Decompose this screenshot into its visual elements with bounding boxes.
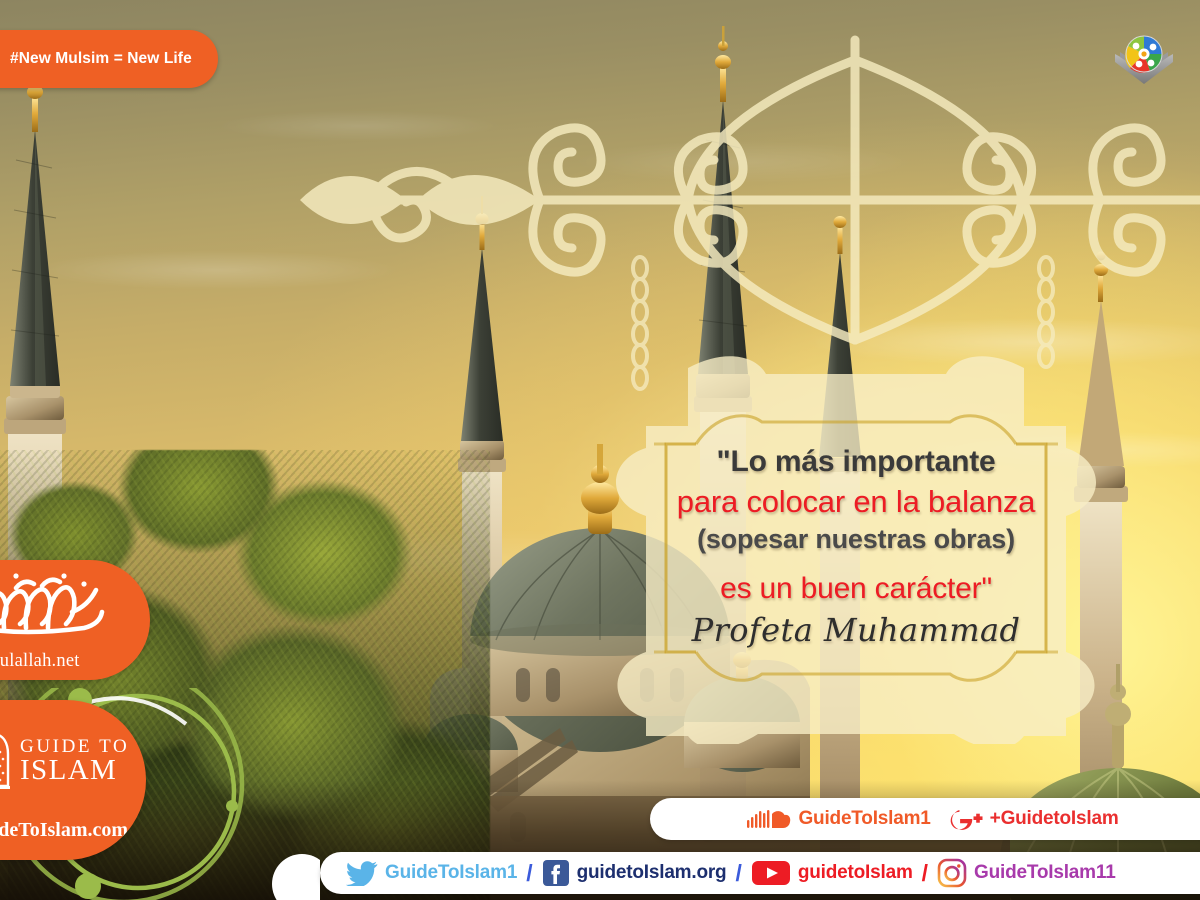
separator-2: / [735, 860, 741, 887]
mosque-arch-icon [0, 732, 10, 790]
social-label-googleplus: +GuidetoIslam [990, 808, 1119, 830]
social-item-twitter[interactable]: GuideToIslam1 [346, 860, 517, 886]
social-item-facebook[interactable]: guidetoIslam.org [542, 859, 727, 887]
instagram-icon [937, 858, 967, 888]
guide-to-islam-line2: ISLAM [20, 757, 129, 784]
twitter-icon [346, 860, 378, 886]
facebook-icon [542, 859, 570, 887]
social-bar-bottom: GuideToIslam1 / guidetoIslam.org / guide… [320, 852, 1200, 894]
social-label-facebook: guidetoIslam.org [577, 862, 727, 884]
quote-line-1: "Lo más importante [717, 446, 996, 478]
separator-1: / [526, 860, 532, 887]
social-label-twitter: GuideToIslam1 [385, 862, 517, 884]
poster-canvas: #New Mulsim = New Life [0, 0, 1200, 900]
open-book-globe-logo[interactable] [1110, 28, 1178, 90]
quote-line-2: para colocar en la balanza [677, 486, 1035, 519]
separator-3: / [922, 860, 928, 887]
quote-line-4: es un buen carácter" [720, 573, 992, 605]
social-item-youtube[interactable]: guidetoIslam [751, 859, 913, 887]
social-label-soundcloud: GuideToIslam1 [798, 808, 930, 830]
quote-attribution: Profeta Muhammad [692, 611, 1021, 649]
social-item-instagram[interactable]: GuideToIslam11 [937, 858, 1116, 888]
social-item-soundcloud[interactable]: GuideToIslam1 [747, 806, 930, 832]
social-label-instagram: GuideToIslam11 [974, 862, 1116, 884]
googleplus-icon [947, 806, 983, 832]
social-label-youtube: guidetoIslam [798, 862, 913, 884]
guide-to-islam-caption: GuideToIslam.com [0, 819, 128, 842]
hashtag-badge: #New Mulsim = New Life [0, 30, 218, 88]
social-bar-top: GuideToIslam1 +GuidetoIslam [650, 798, 1200, 840]
social-item-googleplus[interactable]: +GuidetoIslam [947, 806, 1119, 832]
rasoulallah-caption: Rasoulallah.net [0, 651, 150, 672]
quote-line-3: (sopesar nuestras obras) [697, 525, 1015, 554]
youtube-icon [751, 859, 791, 887]
soundcloud-icon [747, 806, 791, 832]
guide-to-islam-logo[interactable]: GUIDE TO ISLAM GuideToIslam.com [0, 700, 146, 860]
arabic-calligraphy-icon [0, 566, 112, 638]
hashtag-badge-label: #New Mulsim = New Life [10, 50, 192, 68]
quote-panel: "Lo más importante para colocar en la ba… [596, 352, 1116, 744]
rasoulallah-logo[interactable]: Rasoulallah.net [0, 560, 150, 680]
